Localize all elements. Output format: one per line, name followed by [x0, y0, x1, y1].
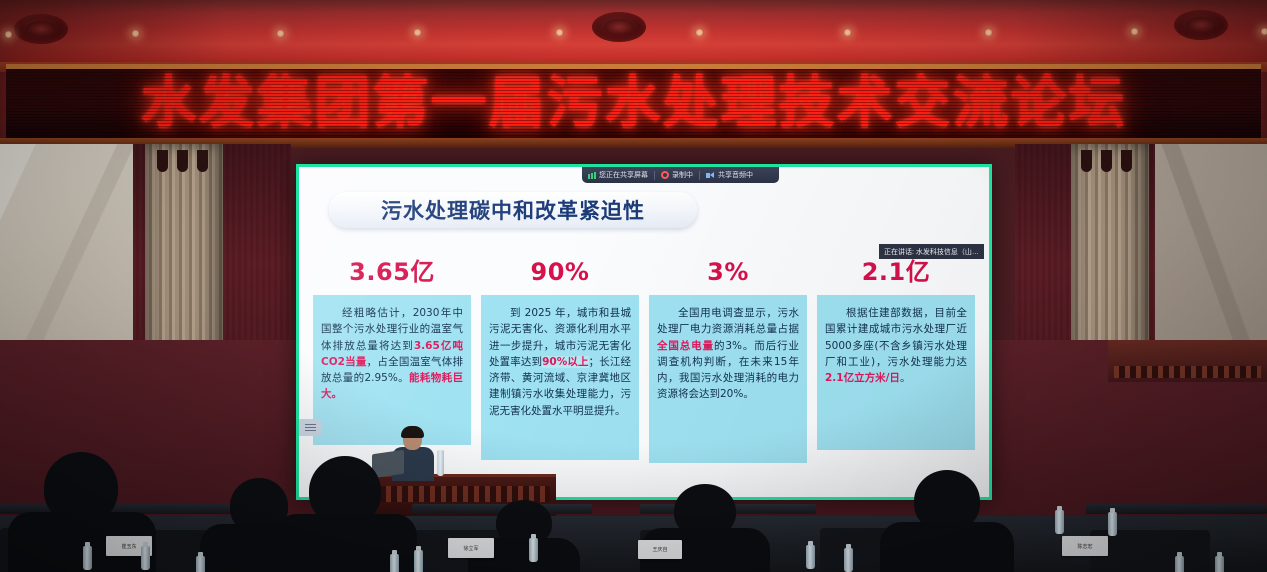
- ceiling-spotlight: [1260, 28, 1267, 35]
- card-highlight-3a: 全国总电量: [657, 340, 714, 352]
- audience-member: [468, 500, 580, 572]
- ceiling-spotlight: [131, 30, 140, 37]
- water-bottle: [806, 545, 815, 569]
- ceiling-vent: [14, 14, 68, 44]
- stat-value-4: 2.1亿: [817, 255, 975, 289]
- slide-column-2: 90% 到 2025 年，城市和县城污泥无害化、资源化利用水平进一步提升，城市污…: [481, 255, 639, 463]
- card-highlight-2a: 90%以上: [542, 356, 589, 368]
- stat-value-3: 3%: [649, 255, 807, 289]
- curtain-hook-icon: [1101, 150, 1112, 172]
- water-bottle: [1215, 556, 1224, 572]
- water-bottle: [83, 546, 92, 570]
- ceiling: [0, 0, 1267, 72]
- ceiling-spotlight: [555, 29, 564, 36]
- side-cabinet-carving: [1114, 366, 1261, 378]
- card-highlight-4a: 2.1亿立方米/日: [825, 372, 900, 384]
- podium-water-bottle: [437, 450, 444, 476]
- ceiling-spotlight: [413, 29, 422, 36]
- panel-toggle-icon[interactable]: [299, 419, 321, 436]
- water-bottle: [844, 548, 853, 572]
- curtain-hook-icon: [197, 150, 208, 172]
- placard-text: 崔玉东: [121, 543, 136, 550]
- recording-status[interactable]: 录制中: [661, 170, 693, 180]
- water-bottle: [196, 556, 205, 572]
- led-banner: 水发集团第一届污水处理技术交流论坛: [6, 64, 1261, 144]
- name-placard: 徐立军: [448, 538, 494, 558]
- active-speaker-badge: 正在讲话: 水发科技信息（山…: [879, 244, 984, 259]
- led-banner-screen: 水发集团第一届污水处理技术交流论坛: [6, 69, 1261, 139]
- toolbar-divider: [699, 171, 700, 180]
- sharing-label: 您正在共享屏幕: [599, 170, 648, 180]
- slide-column-3: 3% 全国用电调查显示，污水处理厂电力资源消耗总量占据全国总电量的3%。而后行业…: [649, 255, 807, 463]
- ceiling-vent: [1174, 10, 1228, 40]
- slide-column-4: 2.1亿 根据住建部数据，目前全国累计建成城市污水处理厂近5000多座(不含乡镇…: [817, 255, 975, 463]
- placard-text: 徐立军: [463, 545, 478, 552]
- ceiling-spotlight: [276, 30, 285, 37]
- stat-value-1: 3.65亿: [313, 255, 471, 289]
- sharing-status: 您正在共享屏幕: [588, 170, 648, 180]
- card-text-3a: 全国用电调查显示，污水处理厂电力资源消耗总量占据: [657, 307, 799, 335]
- ceiling-spotlight: [984, 29, 993, 36]
- stat-card-2: 到 2025 年，城市和县城污泥无害化、资源化利用水平进一步提升，城市污泥无害化…: [481, 295, 639, 460]
- water-bottle: [1175, 556, 1184, 572]
- water-bottle: [414, 550, 423, 572]
- slide-title-container: 污水处理碳中和改革紧迫性: [329, 192, 697, 228]
- water-bottle: [529, 538, 538, 562]
- curtain-hook-icon: [1121, 150, 1132, 172]
- ceiling-spotlight: [4, 31, 13, 38]
- audience-member: [880, 470, 1014, 572]
- stat-card-1: 经粗略估计，2030年中国整个污水处理行业的温室气体排放总量将达到3.65亿吨C…: [313, 295, 471, 445]
- stat-value-2: 90%: [481, 255, 639, 289]
- placard-text: 陈志宏: [1077, 543, 1092, 550]
- toolbar-divider: [654, 171, 655, 180]
- water-bottle: [390, 554, 399, 572]
- ceiling-spotlight: [843, 29, 852, 36]
- chair-back: [1090, 530, 1210, 572]
- water-bottle: [1108, 512, 1117, 536]
- placard-text: 王庆自: [652, 546, 667, 553]
- stat-card-3: 全国用电调查显示，污水处理厂电力资源消耗总量占据全国总电量的3%。而后行业调查机…: [649, 295, 807, 463]
- ceiling-vent: [592, 12, 646, 42]
- water-bottle: [1055, 510, 1064, 534]
- audio-label: 共享音频中: [718, 170, 753, 180]
- side-cabinet: [1108, 340, 1267, 382]
- curtain-hook-icon: [1081, 150, 1092, 172]
- curtain-hook-icon: [177, 150, 188, 172]
- curtain-hook-icon: [157, 150, 168, 172]
- screen-share-toolbar[interactable]: 您正在共享屏幕 录制中 共享音频中: [582, 167, 779, 183]
- signal-icon: [588, 172, 596, 179]
- presenter-hair: [401, 426, 424, 438]
- stat-card-4: 根据住建部数据，目前全国累计建成城市污水处理厂近5000多座(不含乡镇污水处理厂…: [817, 295, 975, 450]
- ceiling-spotlight: [1130, 28, 1139, 35]
- ceiling-spotlight: [695, 29, 704, 36]
- conference-room-photo: 水发集团第一届污水处理技术交流论坛: [0, 0, 1267, 572]
- card-text-4a: 根据住建部数据，目前全国累计建成城市污水处理厂近5000多座(不含乡镇污水处理厂…: [825, 307, 967, 368]
- water-bottle: [141, 546, 150, 570]
- name-placard: 陈志宏: [1062, 536, 1108, 556]
- slide-title: 污水处理碳中和改革紧迫性: [381, 195, 645, 225]
- recording-label: 录制中: [672, 170, 693, 180]
- speaker-icon: [706, 172, 715, 179]
- card-text-4b: 。: [900, 372, 911, 384]
- led-banner-text: 水发集团第一届污水处理技术交流论坛: [141, 76, 1127, 132]
- name-placard: 王庆自: [638, 540, 682, 559]
- record-icon: [661, 171, 669, 179]
- audio-share-status[interactable]: 共享音频中: [706, 170, 753, 180]
